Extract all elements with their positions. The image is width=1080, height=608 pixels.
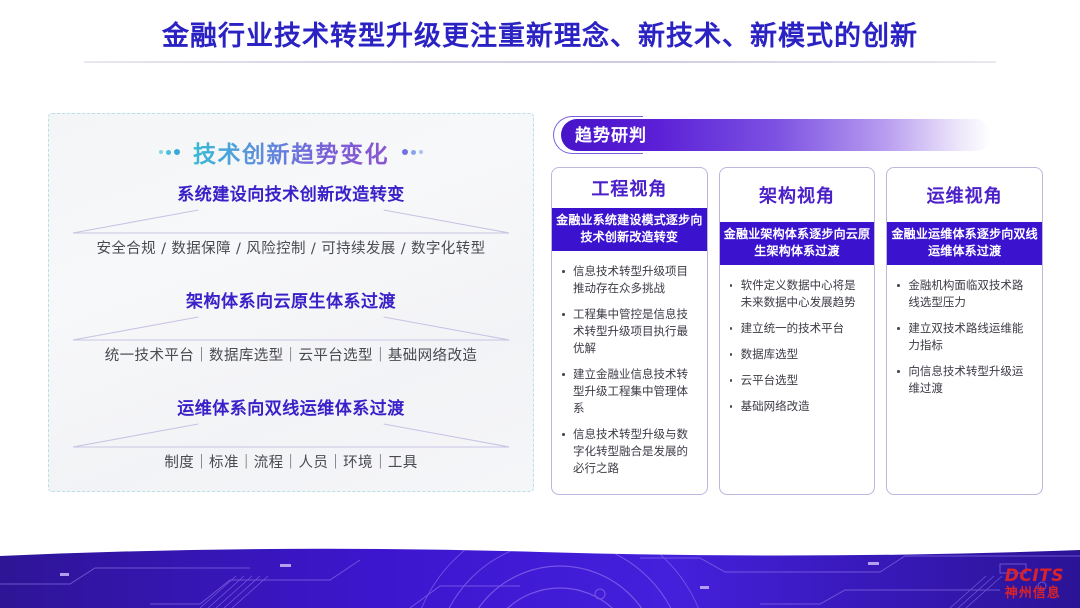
card-architecture-list: 软件定义数据中心将是未来数据中心发展趋势 建立统一的技术平台 数据库选型 云平台…	[720, 265, 875, 494]
company-logo: DCITS 神州信息	[972, 568, 1064, 600]
card-architecture-title: 架构视角	[720, 168, 875, 222]
card-architecture[interactable]: 架构视角 金融业架构体系逐步向云原生架构体系过渡 软件定义数据中心将是未来数据中…	[719, 167, 876, 495]
card-engineering-banner: 金融业系统建设模式逐步向技术创新改造转变	[552, 208, 707, 251]
trend-judgement-label: 趋势研判	[575, 121, 647, 146]
list-item: 信息技术转型升级与数字化转型融合是发展的必行之路	[560, 426, 697, 477]
page-title-container: 金融行业技术转型升级更注重新理念、新技术、新模式的创新	[0, 14, 1080, 53]
dots-right-icon	[402, 149, 423, 155]
card-operations-banner: 金融业运维体系逐步向双线运维体系过渡	[887, 222, 1042, 265]
list-item: 信息技术转型升级项目推动存在众多挑战	[560, 263, 697, 297]
panel-heading-row: 技术创新趋势变化	[49, 135, 533, 169]
funnel-shape-2	[49, 316, 533, 342]
trend-group-1-heading: 系统建设向技术创新改造转变	[49, 180, 533, 205]
card-architecture-banner: 金融业架构体系逐步向云原生架构体系过渡	[720, 222, 875, 265]
funnel-shape-3	[49, 423, 533, 449]
list-item: 基础网络改造	[728, 398, 865, 415]
trend-change-panel: 技术创新趋势变化 系统建设向技术创新改造转变 安全合规 / 数据保障 / 风险控…	[48, 113, 534, 492]
trend-group-3: 运维体系向双线运维体系过渡 制度｜标准｜流程｜人员｜环境｜工具	[49, 394, 533, 472]
list-item: 建立双技术路线运维能力指标	[895, 320, 1032, 354]
list-item: 建立统一的技术平台	[728, 320, 865, 337]
list-item: 向信息技术转型升级运维过渡	[895, 363, 1032, 397]
title-divider	[84, 61, 996, 63]
funnel-shape-1	[49, 209, 533, 235]
dcits-swoosh-icon	[972, 569, 1002, 599]
trend-group-1: 系统建设向技术创新改造转变 安全合规 / 数据保障 / 风险控制 / 可持续发展…	[49, 180, 533, 258]
card-operations[interactable]: 运维视角 金融业运维体系逐步向双线运维体系过渡 金融机构面临双技术路线选型压力 …	[886, 167, 1043, 495]
trend-group-2-heading: 架构体系向云原生体系过渡	[49, 287, 533, 312]
slide-root: 金融行业技术转型升级更注重新理念、新技术、新模式的创新 技术创新趋势变化 系统建…	[0, 0, 1080, 608]
list-item: 云平台选型	[728, 372, 865, 389]
footer-banner: DCITS 神州信息	[0, 546, 1080, 608]
footer-decoration	[0, 546, 1080, 608]
trend-group-2-items: 统一技术平台｜数据库选型｜云平台选型｜基础网络改造	[49, 344, 533, 365]
list-item: 建立金融业信息技术转型升级工程集中管理体系	[560, 366, 697, 417]
card-operations-title: 运维视角	[887, 168, 1042, 222]
trend-group-3-items: 制度｜标准｜流程｜人员｜环境｜工具	[49, 451, 533, 472]
panel-heading: 技术创新趋势变化	[193, 135, 389, 169]
list-item: 金融机构面临双技术路线选型压力	[895, 277, 1032, 311]
page-title: 金融行业技术转型升级更注重新理念、新技术、新模式的创新	[0, 14, 1080, 53]
trend-group-2: 架构体系向云原生体系过渡 统一技术平台｜数据库选型｜云平台选型｜基础网络改造	[49, 287, 533, 365]
trend-group-1-items: 安全合规 / 数据保障 / 风险控制 / 可持续发展 / 数字化转型	[49, 237, 533, 258]
card-operations-list: 金融机构面临双技术路线选型压力 建立双技术路线运维能力指标 向信息技术转型升级运…	[887, 265, 1042, 494]
list-item: 数据库选型	[728, 346, 865, 363]
dots-left-icon	[159, 149, 180, 155]
perspective-cards: 工程视角 金融业系统建设模式逐步向技术创新改造转变 信息技术转型升级项目推动存在…	[551, 167, 1043, 495]
list-item: 软件定义数据中心将是未来数据中心发展趋势	[728, 277, 865, 311]
card-engineering-title: 工程视角	[552, 168, 707, 208]
list-item: 工程集中管控是信息技术转型升级项目执行最优解	[560, 306, 697, 357]
trend-judgement-header: 趋势研判	[553, 116, 991, 154]
trend-group-3-heading: 运维体系向双线运维体系过渡	[49, 394, 533, 419]
card-engineering-list: 信息技术转型升级项目推动存在众多挑战 工程集中管控是信息技术转型升级项目执行最优…	[552, 251, 707, 494]
card-engineering[interactable]: 工程视角 金融业系统建设模式逐步向技术创新改造转变 信息技术转型升级项目推动存在…	[551, 167, 708, 495]
